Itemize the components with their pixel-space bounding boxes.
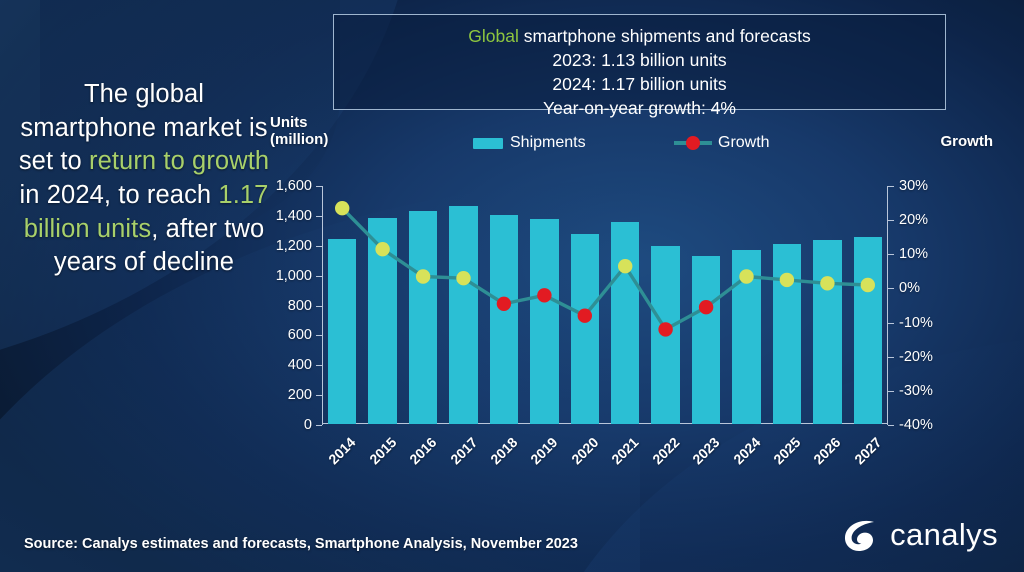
y-tick-right [888, 186, 894, 187]
y-tick-label-right: -40% [899, 417, 933, 433]
growth-marker-2026[interactable]: 2026: 1.5% [820, 276, 834, 290]
canalys-wordmark: canalys [890, 517, 998, 553]
y-tick-label-right: 20% [899, 212, 928, 228]
x-tick-label-2022: 2022 [649, 434, 682, 467]
y-tick-right [888, 357, 894, 358]
y-tick-right [888, 254, 894, 255]
line-swatch-icon [674, 141, 712, 145]
legend-item-growth[interactable]: Growth [674, 134, 770, 152]
x-tick-label-2024: 2024 [730, 434, 763, 467]
x-tick-label-2014: 2014 [325, 434, 358, 467]
growth-marker-2015[interactable]: 2015: 11.5% [375, 242, 389, 256]
x-tick-label-2027: 2027 [851, 434, 884, 467]
growth-marker-2019[interactable]: 2019: -2% [537, 288, 551, 302]
x-tick-label-2023: 2023 [689, 434, 722, 467]
growth-marker-2021[interactable]: 2021: 6.5% [618, 259, 632, 273]
x-tick-label-2019: 2019 [527, 434, 560, 467]
y-tick-right [888, 391, 894, 392]
y-tick-label-right: 10% [899, 246, 928, 262]
x-tick-label-2025: 2025 [770, 434, 803, 467]
headline-segment-2: in 2024, to reach [20, 181, 219, 209]
y-tick-label-left: 800 [288, 298, 312, 314]
y-axis-title-left-line2: (million) [270, 131, 328, 148]
y-tick-left [316, 425, 322, 426]
growth-marker-2023[interactable]: 2023: -5.5% [699, 300, 713, 314]
x-tick-label-2021: 2021 [608, 434, 641, 467]
y-axis-title-right: Growth [941, 133, 994, 150]
title-global-word: Global [468, 26, 519, 46]
y-tick-label-right: -20% [899, 349, 933, 365]
y-tick-label-left: 1,400 [276, 208, 312, 224]
headline-segment-1: return to growth [89, 147, 269, 175]
y-tick-label-left: 400 [288, 357, 312, 373]
line-series-growth: 2014: 23.5%2015: 11.5%2016: 3.5%2017: 3%… [322, 186, 888, 425]
x-tick-label-2020: 2020 [568, 434, 601, 467]
growth-marker-2024[interactable]: 2024: 3.5% [739, 269, 753, 283]
headline-text: The global smartphone market is set to r… [18, 78, 270, 280]
growth-marker-2027[interactable]: 2027: 1% [861, 278, 875, 292]
y-tick-label-left: 200 [288, 387, 312, 403]
plot-area: 02004006008001,0001,2001,4001,600 -40%-3… [322, 186, 888, 424]
x-tick-label-2017: 2017 [447, 434, 480, 467]
y-tick-label-right: 30% [899, 178, 928, 194]
bar-swatch-icon [473, 138, 503, 149]
y-tick-label-left: 600 [288, 327, 312, 343]
y-tick-label-left: 0 [304, 417, 312, 433]
growth-marker-2022[interactable]: 2022: -12% [658, 322, 672, 336]
y-tick-right [888, 220, 894, 221]
legend-label-growth: Growth [718, 134, 770, 152]
x-tick-label-2016: 2016 [406, 434, 439, 467]
legend-label-shipments: Shipments [510, 134, 586, 152]
growth-marker-2017[interactable]: 2017: 3% [456, 271, 470, 285]
legend-item-shipments[interactable]: Shipments [473, 134, 586, 152]
growth-marker-2018[interactable]: 2018: -4.5% [497, 297, 511, 311]
title-line-2: 2023: 1.13 billion units [334, 48, 945, 72]
x-tick-label-2018: 2018 [487, 434, 520, 467]
source-note: Source: Canalys estimates and forecasts,… [24, 536, 578, 552]
y-tick-label-left: 1,200 [276, 238, 312, 254]
y-axis-title-left-line1: Units [270, 114, 328, 131]
x-tick-label-2026: 2026 [810, 434, 843, 467]
growth-marker-2016[interactable]: 2016: 3.5% [416, 269, 430, 283]
chart-legend: Shipments Growth [455, 134, 855, 160]
growth-marker-2014[interactable]: 2014: 23.5% [335, 201, 349, 215]
slide-canvas: The global smartphone market is set to r… [0, 0, 1024, 572]
growth-marker-2025[interactable]: 2025: 2.5% [780, 273, 794, 287]
y-tick-label-right: -10% [899, 315, 933, 331]
y-tick-label-left: 1,000 [276, 268, 312, 284]
growth-line-path [342, 208, 868, 329]
y-tick-right [888, 323, 894, 324]
growth-marker-2020[interactable]: 2020: -8% [578, 309, 592, 323]
y-tick-label-right: 0% [899, 280, 920, 296]
title-box: Global smartphone shipments and forecast… [333, 14, 946, 110]
y-tick-right [888, 425, 894, 426]
y-tick-right [888, 288, 894, 289]
chart-container: Units (million) Growth Shipments Growth … [265, 112, 1005, 472]
canalys-logo: canalys [841, 516, 998, 554]
marker-dot-icon [686, 136, 700, 150]
y-tick-label-left: 1,600 [276, 178, 312, 194]
canalys-mark-icon [841, 516, 881, 554]
y-axis-title-left: Units (million) [270, 114, 328, 148]
y-tick-label-right: -30% [899, 383, 933, 399]
x-tick-label-2015: 2015 [366, 434, 399, 467]
title-line-1-rest: smartphone shipments and forecasts [519, 26, 811, 46]
title-line-3: 2024: 1.17 billion units [334, 72, 945, 96]
title-line-1: Global smartphone shipments and forecast… [334, 24, 945, 48]
